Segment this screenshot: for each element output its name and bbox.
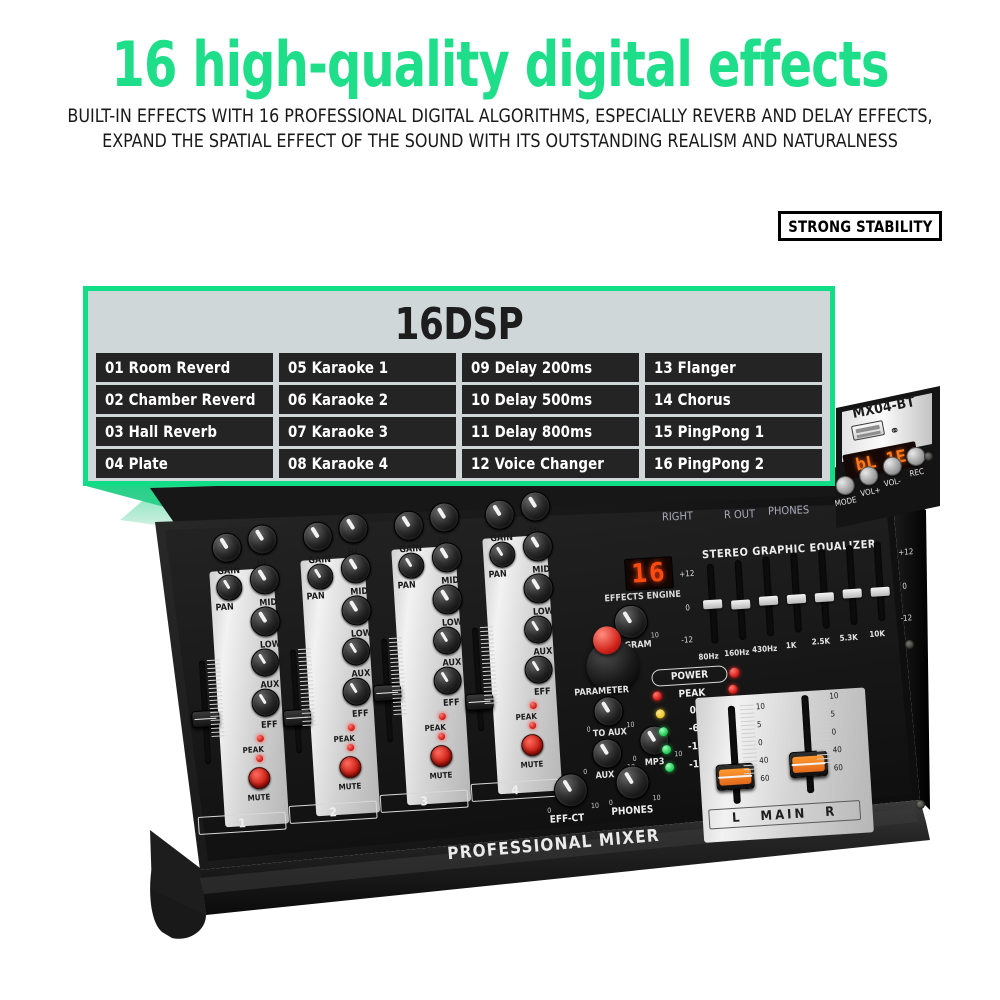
main-output-section: 10 5 0 40 60 10 5 0 40 60 L MAIN R xyxy=(695,686,895,858)
dsp-effect-label: 13 Flanger xyxy=(654,358,736,377)
dsp-effect-cell: 08 Karaoke 4 xyxy=(279,449,456,478)
dsp-effect-cell: 11 Delay 800ms xyxy=(462,417,639,446)
dsp-effect-label: 14 Chorus xyxy=(654,390,731,409)
product-marketing-image: 16 high-quality digital effects BUILT-IN… xyxy=(0,0,1000,1000)
master-knob-group: EFF-CT 0 10 PHONES 0 10 xyxy=(543,765,707,845)
eq-band-label-5-3k: 5.3K xyxy=(839,633,858,643)
dsp-effect-cell: 06 Karaoke 2 xyxy=(279,385,456,414)
dsp-effect-label: 12 Voice Changer xyxy=(471,454,604,473)
dsp-effect-cell: 12 Voice Changer xyxy=(462,449,639,478)
dsp-effect-cell: 02 Chamber Reverd xyxy=(96,385,273,414)
main-label-left: L xyxy=(732,810,743,826)
to-aux-min: 0 xyxy=(586,726,591,734)
eq-band-slot-10k xyxy=(874,541,886,621)
power-label: POWER xyxy=(671,669,709,682)
eq-band-label-430hz: 430Hz xyxy=(752,644,778,655)
chassis-screw xyxy=(924,452,933,461)
channel-4-gain-knob[interactable] xyxy=(484,499,516,531)
dsp-effect-cell: 03 Hall Reverb xyxy=(96,417,273,446)
eq-scale-bottom-right: -12 xyxy=(900,613,912,623)
dsp-effect-label: 10 Delay 500ms xyxy=(471,390,592,409)
eq-band-fader-430hz[interactable] xyxy=(759,596,779,606)
eff-ct-min: 0 xyxy=(547,807,552,815)
dsp-effect-cell: 07 Karaoke 3 xyxy=(279,417,456,446)
dsp-effect-cell: 13 Flanger xyxy=(645,353,822,382)
phones-knob-label: PHONES xyxy=(611,804,654,818)
meter-led-0-left xyxy=(656,709,666,719)
eq-band-fader-80hz[interactable] xyxy=(703,599,723,609)
dsp-effect-label: 07 Karaoke 3 xyxy=(288,422,388,441)
power-indicator-plate: POWER xyxy=(651,665,728,687)
eq-band-label-10k: 10K xyxy=(869,629,885,639)
eq-scale-top-right: +12 xyxy=(898,547,914,557)
dsp-effect-label: 09 Delay 200ms xyxy=(471,358,592,377)
dsp-effect-cell: 05 Karaoke 1 xyxy=(279,353,456,382)
channel-1-gain-knob[interactable] xyxy=(211,532,243,564)
dsp-effect-cell: 09 Delay 200ms xyxy=(462,353,639,382)
eq-band-fader-1k[interactable] xyxy=(787,594,807,604)
bluetooth-usb-module: MX04-BT ⚭ bL 1E MODE VOL+ VOL- REC xyxy=(832,378,944,528)
dsp-effect-label: 08 Karaoke 4 xyxy=(288,454,388,473)
eq-scale-mid-right: 0 xyxy=(902,582,907,591)
phones-knob[interactable] xyxy=(615,764,651,800)
channel-2-gain-knob[interactable] xyxy=(302,521,334,553)
meter-led-peak-left xyxy=(652,691,662,701)
eff-ct-max: 10 xyxy=(591,802,600,810)
channel-4-number: 4 xyxy=(511,783,519,797)
eq-band-fader-5-3k[interactable] xyxy=(842,588,862,598)
dsp-effect-cell: 15 PingPong 1 xyxy=(645,417,822,446)
dsp-effect-cell: 04 Plate xyxy=(96,449,273,478)
dsp-panel-title: 16DSP xyxy=(125,291,793,349)
channel-1-number-plate: 1 xyxy=(198,812,287,835)
eq-band-fader-2-5k[interactable] xyxy=(815,592,835,602)
to-aux-max: 10 xyxy=(626,721,635,729)
eq-band-label-80hz: 80Hz xyxy=(698,652,719,662)
channel-3-number-plate: 3 xyxy=(380,790,469,813)
dsp-effect-cell: 16 PingPong 2 xyxy=(645,449,822,478)
channel-2-number: 2 xyxy=(329,805,337,819)
channel-3-gain-knob[interactable] xyxy=(393,510,425,542)
eq-band-label-1k: 1K xyxy=(786,641,797,651)
eq-band-fader-10k[interactable] xyxy=(870,587,890,597)
power-led xyxy=(729,667,740,678)
effects-engine-display: 16 xyxy=(624,556,674,591)
channel-1-number: 1 xyxy=(238,816,246,830)
channel-3-number: 3 xyxy=(420,794,428,808)
eq-band-label-160hz: 160Hz xyxy=(724,648,750,659)
aux-master-knob[interactable] xyxy=(591,738,623,770)
meter-led-peak-right xyxy=(728,685,738,695)
program-knob-max: 10 xyxy=(651,631,660,639)
to-aux-knob-label: TO AUX xyxy=(593,727,628,739)
dsp-effect-label: 15 PingPong 1 xyxy=(654,422,764,441)
eq-band-slot-1k xyxy=(790,552,802,632)
dsp-effect-label: 02 Chamber Reverd xyxy=(105,390,256,409)
eff-ct-knob[interactable] xyxy=(553,772,589,808)
dsp-effect-label: 06 Karaoke 2 xyxy=(288,390,388,409)
dsp-effect-label: 04 Plate xyxy=(105,454,168,473)
dsp-effect-label: 01 Room Reverd xyxy=(105,358,230,377)
dsp-effect-label: 03 Hall Reverb xyxy=(105,422,217,441)
eff-ct-knob-label: EFF-CT xyxy=(549,813,584,826)
to-aux-knob[interactable] xyxy=(593,695,625,727)
dsp-effects-panel: 16DSP 01 Room Reverd 05 Karaoke 1 09 Del… xyxy=(83,286,835,486)
chassis-screw-right-lower xyxy=(916,800,925,809)
mp3-min: 0 xyxy=(632,755,637,763)
dsp-effects-grid: 01 Room Reverd 05 Karaoke 1 09 Delay 200… xyxy=(96,353,822,478)
phones-max: 10 xyxy=(652,794,661,802)
dsp-effect-label: 05 Karaoke 1 xyxy=(288,358,388,377)
main-label-center: MAIN xyxy=(760,806,808,824)
eq-band-label-2-5k: 2.5K xyxy=(811,636,830,646)
dsp-effect-label: 11 Delay 800ms xyxy=(471,422,592,441)
channel-2-number-plate: 2 xyxy=(289,801,378,824)
eq-band-fader-160hz[interactable] xyxy=(731,599,751,609)
dsp-effect-label: 16 PingPong 2 xyxy=(654,454,764,473)
dsp-effect-cell: 10 Delay 500ms xyxy=(462,385,639,414)
phones-min: 0 xyxy=(609,799,614,807)
eq-band-slot-2-5k xyxy=(818,549,830,629)
meter-led-6-left xyxy=(659,727,669,737)
eq-band-slot-5-3k xyxy=(846,545,858,625)
dsp-effect-cell: 01 Room Reverd xyxy=(96,353,273,382)
dsp-effect-cell: 14 Chorus xyxy=(645,385,822,414)
main-label-right: R xyxy=(825,804,838,820)
meter-led-10-left xyxy=(662,745,672,755)
chassis-screw-right xyxy=(905,640,914,649)
